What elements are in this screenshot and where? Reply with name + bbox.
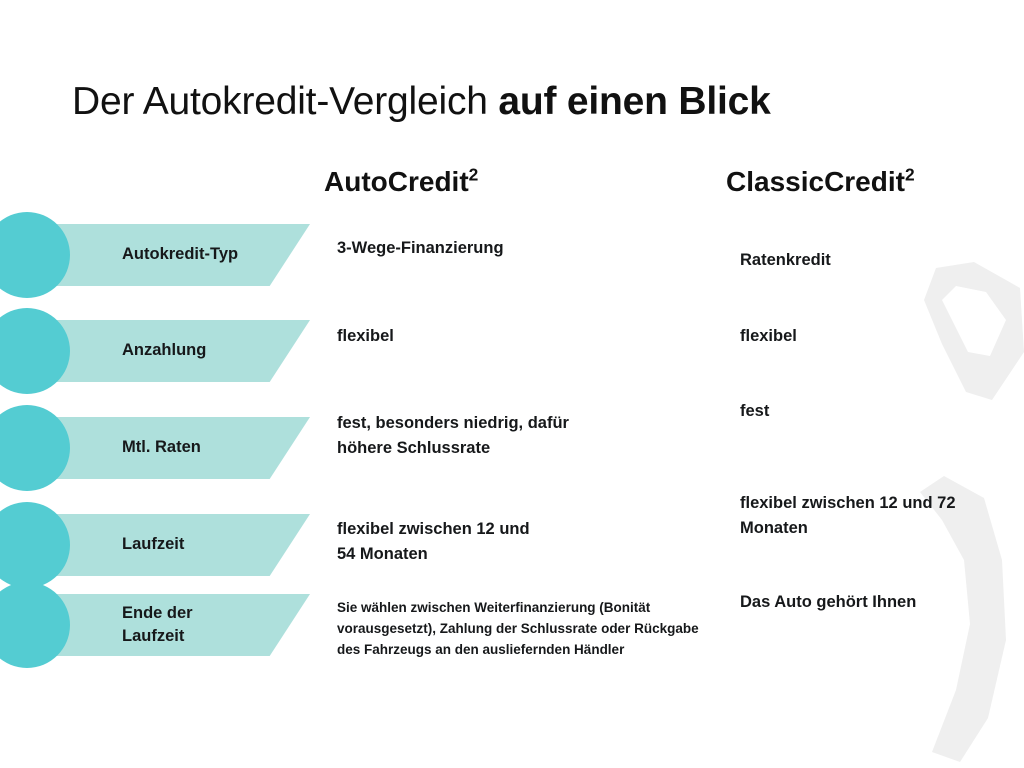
page-title-light: Der Autokredit-Vergleich xyxy=(72,80,488,123)
value-autocredit-raten: fest, besonders niedrig, dafür höhere Sc… xyxy=(337,411,607,461)
value-autocredit-typ: 3-Wege-Finanzierung xyxy=(337,236,737,261)
row-label-mtl-raten: Mtl. Raten xyxy=(122,436,302,459)
column-header-autocredit-name: AutoCredit xyxy=(324,166,469,197)
column-header-autocredit-footnote: 2 xyxy=(469,165,479,185)
page-title: Der Autokredit-Vergleich auf einen Blick xyxy=(72,78,771,126)
value-classiccredit-raten: fest xyxy=(740,399,1024,424)
column-header-classiccredit: ClassicCredit2 xyxy=(726,165,915,199)
value-classiccredit-typ: Ratenkredit xyxy=(740,248,1024,273)
value-autocredit-ende: Sie wählen zwischen Weiterfinanzierung (… xyxy=(337,597,722,660)
value-autocredit-laufzeit: flexibel zwischen 12 und 54 Monaten xyxy=(337,517,537,567)
row-label-autokredit-typ: Autokredit-Typ xyxy=(122,243,302,266)
value-classiccredit-laufzeit: flexibel zwischen 12 und 72 Monaten xyxy=(740,491,990,541)
value-classiccredit-ende: Das Auto gehört Ihnen xyxy=(740,590,1000,615)
column-header-classiccredit-footnote: 2 xyxy=(905,165,915,185)
column-header-autocredit: AutoCredit2 xyxy=(324,165,478,199)
row-label-laufzeit: Laufzeit xyxy=(122,533,302,556)
background-watermark xyxy=(824,0,1024,768)
row-label-ende-der-laufzeit: Ende der Laufzeit xyxy=(122,602,242,648)
column-header-classiccredit-name: ClassicCredit xyxy=(726,166,905,197)
value-autocredit-anzahlung: flexibel xyxy=(337,324,737,349)
row-label-anzahlung: Anzahlung xyxy=(122,339,302,362)
page-title-bold: auf einen Blick xyxy=(498,80,770,123)
value-classiccredit-anzahlung: flexibel xyxy=(740,324,1024,349)
